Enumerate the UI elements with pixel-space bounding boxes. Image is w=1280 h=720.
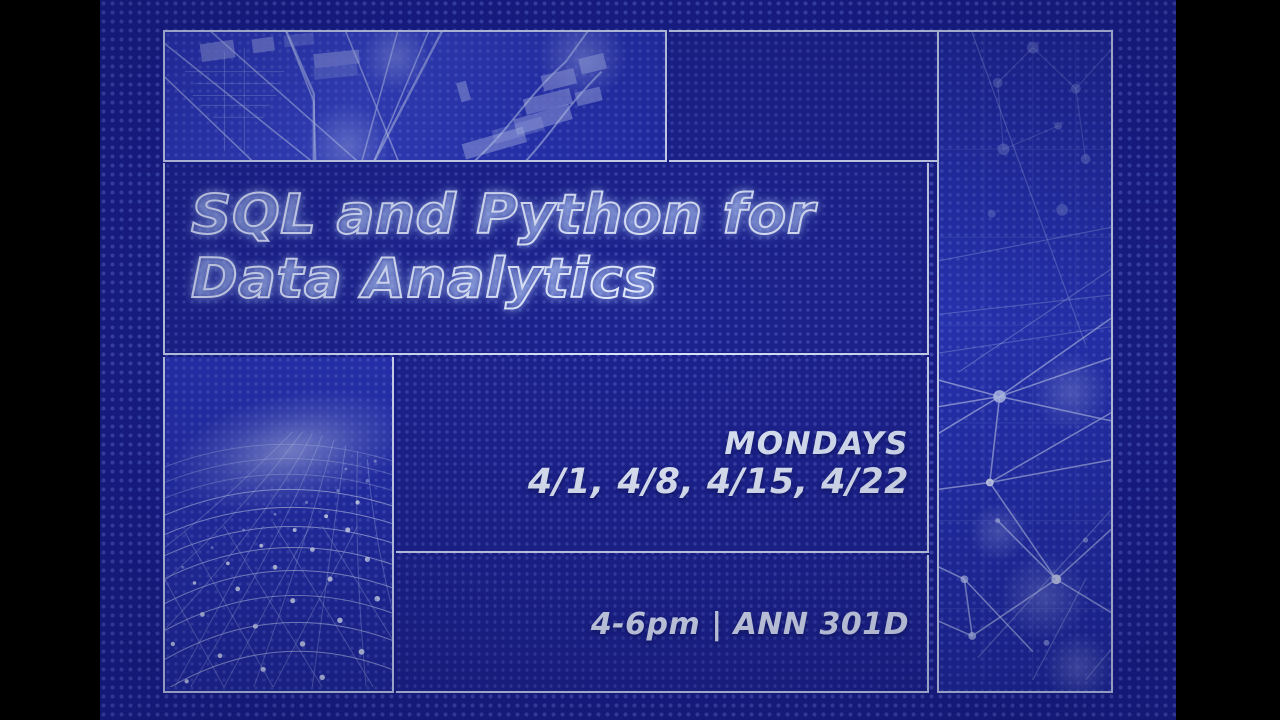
schedule-day-label: MONDAYS: [528, 427, 909, 461]
network-graph-graphic: [939, 32, 1111, 680]
mesh-grid-image: [163, 357, 394, 693]
letterbox-right: [1176, 0, 1280, 720]
network-graph-image: [937, 30, 1113, 693]
aerial-map-image: [163, 30, 667, 162]
poster-frame-grid: SQL and Python for Data Analytics: [163, 30, 1113, 693]
poster-canvas: SQL and Python for Data Analytics: [100, 0, 1176, 720]
time-location-panel: 4-6pm | ANN 301D: [396, 555, 929, 693]
title-line-1: SQL and Python for: [191, 183, 929, 247]
time-location-text: 4-6pm | ANN 301D: [591, 607, 909, 643]
letterbox-left: [0, 0, 100, 720]
schedule-dates: 4/1, 4/8, 4/15, 4/22: [528, 461, 909, 503]
title-panel: SQL and Python for Data Analytics: [163, 163, 929, 355]
poster-stage: SQL and Python for Data Analytics: [0, 0, 1280, 720]
title-line-2: Data Analytics: [191, 247, 929, 311]
time-location-value: 4-6pm | ANN 301D: [591, 607, 909, 643]
schedule-panel: MONDAYS 4/1, 4/8, 4/15, 4/22: [396, 357, 929, 553]
page-title: SQL and Python for Data Analytics: [191, 183, 917, 311]
schedule-text: MONDAYS 4/1, 4/8, 4/15, 4/22: [528, 427, 909, 503]
mesh-grid-graphic: [165, 357, 392, 687]
